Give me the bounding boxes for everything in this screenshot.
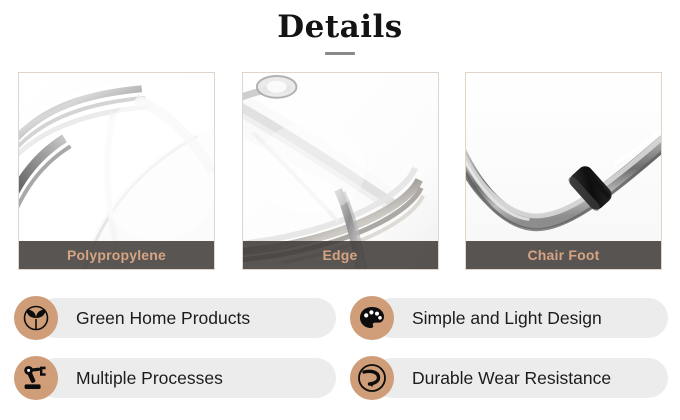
page-title: Details (0, 8, 680, 46)
feature-item-simple-and-light-design[interactable]: Simple and Light Design (350, 296, 602, 340)
palette-icon (350, 296, 394, 340)
circular-arrow-icon (350, 356, 394, 400)
detail-panel-polypropylene[interactable]: Polypropylene (18, 72, 215, 270)
panel-caption-text: Polypropylene (67, 247, 166, 263)
page-header: Details (0, 0, 680, 55)
feature-label: Durable Wear Resistance (412, 368, 611, 389)
panel-caption-edge: Edge (243, 241, 438, 269)
feature-label: Simple and Light Design (412, 308, 602, 329)
detail-panels-row: Polypropylene (18, 72, 662, 270)
feature-list: Green Home Products Simple and Light Des… (0, 288, 680, 416)
feature-item-durable-wear-resistance[interactable]: Durable Wear Resistance (350, 356, 611, 400)
sprout-icon (14, 296, 58, 340)
feature-item-multiple-processes[interactable]: Multiple Processes (14, 356, 223, 400)
chair-foot-closeup-photo (466, 73, 661, 269)
title-divider (325, 52, 355, 55)
detail-panel-chair-foot[interactable]: Chair Foot (465, 72, 662, 270)
panel-caption-polypropylene: Polypropylene (19, 241, 214, 269)
panel-caption-text: Edge (322, 247, 357, 263)
polypropylene-closeup-photo (19, 73, 214, 269)
robot-arm-icon (14, 356, 58, 400)
feature-item-green-home-products[interactable]: Green Home Products (14, 296, 250, 340)
edge-closeup-photo (243, 73, 438, 269)
detail-panel-edge[interactable]: Edge (242, 72, 439, 270)
panel-caption-text: Chair Foot (528, 247, 600, 263)
feature-label: Green Home Products (76, 308, 250, 329)
panel-caption-chair-foot: Chair Foot (466, 241, 661, 269)
feature-label: Multiple Processes (76, 368, 223, 389)
